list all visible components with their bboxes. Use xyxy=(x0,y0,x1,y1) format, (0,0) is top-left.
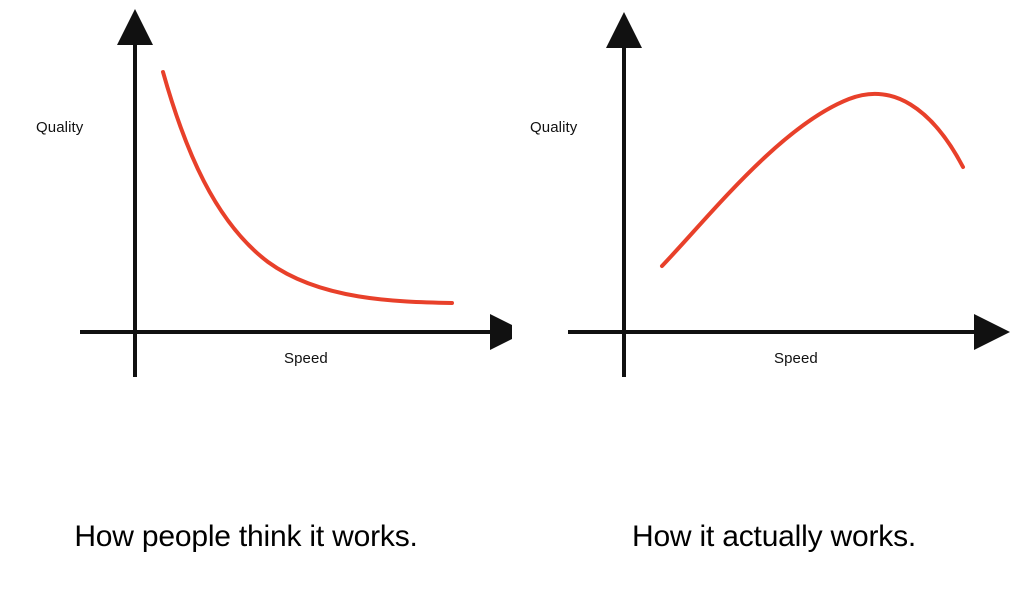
y-axis-label-actual: Quality xyxy=(530,120,577,135)
plot-actual xyxy=(512,0,1024,400)
caption-actual: How it actually works. xyxy=(518,519,1024,555)
plot-expected xyxy=(0,0,512,400)
x-axis-label-actual: Speed xyxy=(774,351,818,366)
panel-actual: Quality Speed How it actually works. xyxy=(512,0,1024,607)
panel-expected: Quality Speed How people think it works. xyxy=(0,0,512,607)
caption-expected: How people think it works. xyxy=(0,519,502,555)
quality-curve-expected xyxy=(163,72,452,303)
y-axis-label-expected: Quality xyxy=(36,120,83,135)
two-panel-figure: Quality Speed How people think it works.… xyxy=(0,0,1024,607)
x-axis-label-expected: Speed xyxy=(284,351,328,366)
quality-curve-actual xyxy=(662,94,963,266)
